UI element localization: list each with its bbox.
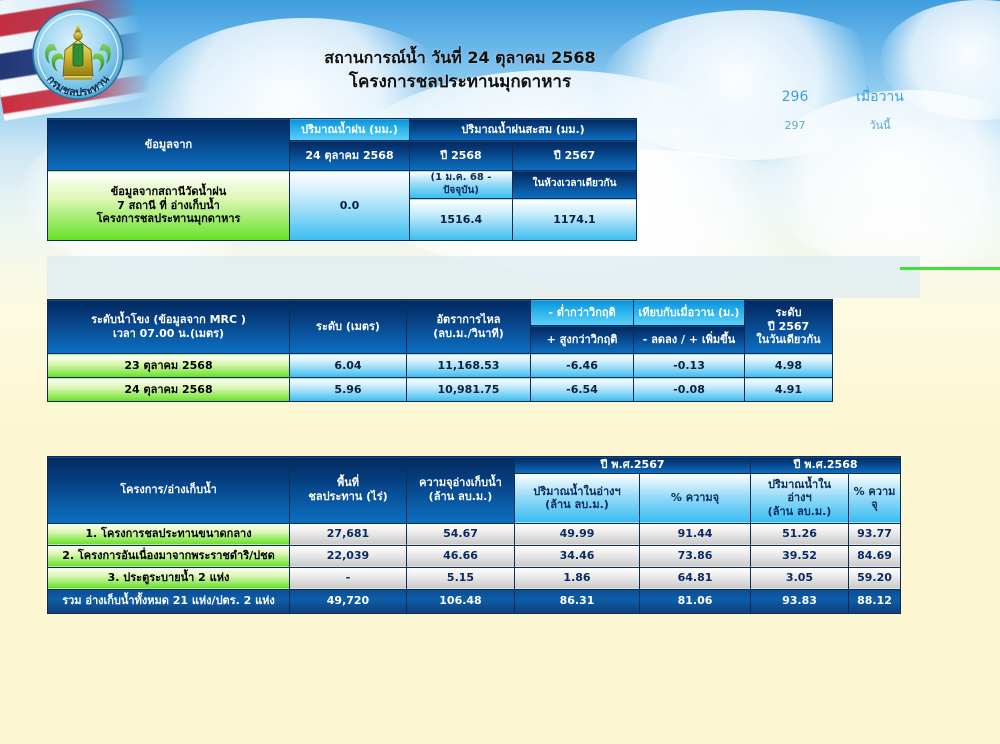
table-row: ข้อมูลจากสถานีวัดน้ำฝน 7 สถานี ที่ อ่างเ… <box>48 171 637 199</box>
rainfall-source-line-2: 7 สถานี ที่ อ่างเก็บน้ำ <box>50 199 287 213</box>
report-page: กรมชลประทาน สถานการณ์น้ำ วันที่ 24 ตุลาค… <box>0 0 1000 744</box>
reservoir-row-vol-2567: 49.99 <box>515 523 640 545</box>
mekong-row-level: 5.96 <box>290 378 407 402</box>
reservoir-row-pct-2567: 64.81 <box>640 567 751 589</box>
reservoir-total-pct-2567: 81.06 <box>640 589 751 613</box>
mekong-header-title-line-2: เวลา 07.00 น.(เมตร) <box>50 327 287 341</box>
reservoir-header-vol-2568: ปริมาณน้ำใน อ่างฯ (ล้าน ลบ.ม.) <box>751 473 849 523</box>
reservoir-total-pct-2568: 88.12 <box>849 589 901 613</box>
reservoir-row-pct-2568: 84.69 <box>849 545 901 567</box>
mekong-header-critical-top: - ต่ำกว่าวิกฤติ <box>531 300 634 326</box>
reservoir-header-vol-2568-line-1: ปริมาณน้ำใน <box>753 478 846 492</box>
reservoir-header-area-line-2: ชลประทาน (ไร่) <box>292 490 404 504</box>
rainfall-header-accumulated: ปริมาณน้ำฝนสะสม (มม.) <box>410 119 637 141</box>
title-line-2: โครงการชลประทานมุกดาหาร <box>250 70 670 94</box>
page-title: สถานการณ์น้ำ วันที่ 24 ตุลาคม 2568 โครงก… <box>250 47 670 94</box>
table-row: ข้อมูลจาก ปริมาณน้ำฝน (มม.) ปริมาณน้ำฝนส… <box>48 119 637 141</box>
mekong-level-table: ระดับน้ำโขง (ข้อมูลจาก MRC ) เวลา 07.00 … <box>47 299 833 402</box>
rainfall-header-year-2568: ปี 2568 <box>410 141 513 171</box>
table-row: 24 ตุลาคม 2568 5.96 10,981.75 -6.54 -0.0… <box>48 378 833 402</box>
rainfall-value-today: 0.0 <box>290 171 410 241</box>
rainfall-source-line-1: ข้อมูลจากสถานีวัดน้ำฝน <box>50 185 287 199</box>
mekong-header-year-2567: ระดับ ปี 2567 ในวันเดียวกัน <box>745 300 833 354</box>
rainfall-accum-2568: 1516.4 <box>410 199 513 241</box>
mekong-header-2567-line-2: ปี 2567 <box>747 320 830 334</box>
rainfall-subheader-2568: (1 ม.ค. 68 - ปัจจุบัน) <box>410 171 513 199</box>
reservoir-row-pct-2568: 59.20 <box>849 567 901 589</box>
reservoir-row-vol-2567: 1.86 <box>515 567 640 589</box>
reservoir-row-capacity: 46.66 <box>407 545 515 567</box>
mekong-row-critical: -6.54 <box>531 378 634 402</box>
table-row-total: รวม อ่างเก็บน้ำทั้งหมด 21 แห่ง/ปตร. 2 แห… <box>48 589 901 613</box>
reservoir-total-vol-2567: 86.31 <box>515 589 640 613</box>
mekong-header-title: ระดับน้ำโขง (ข้อมูลจาก MRC ) เวลา 07.00 … <box>48 300 290 354</box>
reservoir-row-area: 27,681 <box>290 523 407 545</box>
reservoir-header-vol-2568-line-3: (ล้าน ลบ.ม.) <box>753 505 846 519</box>
rainfall-source-cell: ข้อมูลจากสถานีวัดน้ำฝน 7 สถานี ที่ อ่างเ… <box>48 171 290 241</box>
reservoir-row-name: 1. โครงการชลประทานขนาดกลาง <box>48 523 290 545</box>
reservoir-row-pct-2567: 73.86 <box>640 545 751 567</box>
mekong-row-compare: -0.13 <box>634 354 745 378</box>
table-row: 3. ประตูระบายน้ำ 2 แห่ง - 5.15 1.86 64.8… <box>48 567 901 589</box>
reservoir-row-area: 22,039 <box>290 545 407 567</box>
mekong-header-level: ระดับ (เมตร) <box>290 300 407 354</box>
table-row: 2. โครงการอันเนื่องมาจากพระราชดำริ/ปชด 2… <box>48 545 901 567</box>
reservoir-row-vol-2567: 34.46 <box>515 545 640 567</box>
mekong-header-compare-bottom: - ลดลง / + เพิ่มขึ้น <box>634 326 745 354</box>
reservoir-total-area: 49,720 <box>290 589 407 613</box>
reservoir-header-vol-2567-line-1: ปริมาณน้ำในอ่างฯ <box>517 485 637 499</box>
reservoir-row-capacity: 54.67 <box>407 523 515 545</box>
rainfall-header-date: 24 ตุลาคม 2568 <box>290 141 410 171</box>
counter-yesterday-value: 296 <box>760 89 830 105</box>
reservoir-header-pct-2567: % ความจุ <box>640 473 751 523</box>
mekong-header-flow-line-2: (ลบ.ม./วินาที) <box>409 327 528 341</box>
rainfall-header-rainfall: ปริมาณน้ำฝน (มม.) <box>290 119 410 141</box>
reservoir-header-year-2568: ปี พ.ศ.2568 <box>751 457 901 474</box>
reservoir-row-pct-2568: 93.77 <box>849 523 901 545</box>
reservoir-row-capacity: 5.15 <box>407 567 515 589</box>
reservoir-row-name: 2. โครงการอันเนื่องมาจากพระราชดำริ/ปชด <box>48 545 290 567</box>
mekong-header-flow: อัตราการไหล (ลบ.ม./วินาที) <box>407 300 531 354</box>
reservoir-row-vol-2568: 3.05 <box>751 567 849 589</box>
table-row: 23 ตุลาคม 2568 6.04 11,168.53 -6.46 -0.1… <box>48 354 833 378</box>
reservoir-header-vol-2568-line-2: อ่างฯ <box>753 491 846 505</box>
reservoir-header-project: โครงการ/อ่างเก็บน้ำ <box>48 457 290 524</box>
mekong-row-date: 24 ตุลาคม 2568 <box>48 378 290 402</box>
reservoir-header-year-2567: ปี พ.ศ.2567 <box>515 457 751 474</box>
reservoir-table: โครงการ/อ่างเก็บน้ำ พื้นที่ ชลประทาน (ไร… <box>47 456 901 614</box>
rainfall-accum-2567: 1174.1 <box>513 199 637 241</box>
reservoir-row-area: - <box>290 567 407 589</box>
mekong-header-2567-line-1: ระดับ <box>747 306 830 320</box>
mekong-row-flow: 10,981.75 <box>407 378 531 402</box>
mekong-row-compare: -0.08 <box>634 378 745 402</box>
mekong-row-date: 23 ตุลาคม 2568 <box>48 354 290 378</box>
reservoir-row-vol-2568: 39.52 <box>751 545 849 567</box>
green-divider-line <box>900 267 1000 270</box>
mekong-row-2567: 4.91 <box>745 378 833 402</box>
visitor-counter: 296 เมื่อวาน 297 วันนี้ <box>760 86 940 134</box>
reservoir-total-capacity: 106.48 <box>407 589 515 613</box>
rainfall-header-source: ข้อมูลจาก <box>48 119 290 171</box>
mekong-row-flow: 11,168.53 <box>407 354 531 378</box>
rainfall-subheader-2567: ในห้วงเวลาเดียวกัน <box>513 171 637 199</box>
rainfall-source-line-3: โครงการชลประทานมุกดาหาร <box>50 212 287 226</box>
reservoir-row-vol-2568: 51.26 <box>751 523 849 545</box>
counter-yesterday-label: เมื่อวาน <box>830 86 930 108</box>
title-line-1: สถานการณ์น้ำ วันที่ 24 ตุลาคม 2568 <box>250 47 670 70</box>
mekong-header-title-line-1: ระดับน้ำโขง (ข้อมูลจาก MRC ) <box>50 313 287 327</box>
reservoir-header-area-line-1: พื้นที่ <box>292 476 404 490</box>
mekong-header-2567-line-3: ในวันเดียวกัน <box>747 333 830 347</box>
table-row: ระดับน้ำโขง (ข้อมูลจาก MRC ) เวลา 07.00 … <box>48 300 833 326</box>
mekong-header-compare-top: เทียบกับเมื่อวาน (ม.) <box>634 300 745 326</box>
mekong-header-critical-bottom: + สูงกว่าวิกฤติ <box>531 326 634 354</box>
counter-today-value: 297 <box>760 119 830 132</box>
mekong-header-flow-line-1: อัตราการไหล <box>409 313 528 327</box>
panel-divider <box>47 256 920 298</box>
mekong-row-2567: 4.98 <box>745 354 833 378</box>
mekong-row-level: 6.04 <box>290 354 407 378</box>
reservoir-header-area: พื้นที่ ชลประทาน (ไร่) <box>290 457 407 524</box>
mekong-row-critical: -6.46 <box>531 354 634 378</box>
reservoir-total-name: รวม อ่างเก็บน้ำทั้งหมด 21 แห่ง/ปตร. 2 แห… <box>48 589 290 613</box>
reservoir-header-capacity-line-1: ความจุอ่างเก็บน้ำ <box>409 476 512 490</box>
reservoir-header-pct-2568: % ความจุ <box>849 473 901 523</box>
reservoir-header-capacity-line-2: (ล้าน ลบ.ม.) <box>409 490 512 504</box>
table-row: โครงการ/อ่างเก็บน้ำ พื้นที่ ชลประทาน (ไร… <box>48 457 901 474</box>
counter-today-label: วันนี้ <box>830 116 930 134</box>
table-row: 1. โครงการชลประทานขนาดกลาง 27,681 54.67 … <box>48 523 901 545</box>
reservoir-header-vol-2567: ปริมาณน้ำในอ่างฯ (ล้าน ลบ.ม.) <box>515 473 640 523</box>
reservoir-header-vol-2567-line-2: (ล้าน ลบ.ม.) <box>517 498 637 512</box>
reservoir-row-name: 3. ประตูระบายน้ำ 2 แห่ง <box>48 567 290 589</box>
rainfall-table: ข้อมูลจาก ปริมาณน้ำฝน (มม.) ปริมาณน้ำฝนส… <box>47 118 637 241</box>
rainfall-header-year-2567: ปี 2567 <box>513 141 637 171</box>
royal-irrigation-department-emblem-icon: กรมชลประทาน <box>28 6 128 106</box>
reservoir-header-capacity: ความจุอ่างเก็บน้ำ (ล้าน ลบ.ม.) <box>407 457 515 524</box>
reservoir-total-vol-2568: 93.83 <box>751 589 849 613</box>
reservoir-row-pct-2567: 91.44 <box>640 523 751 545</box>
